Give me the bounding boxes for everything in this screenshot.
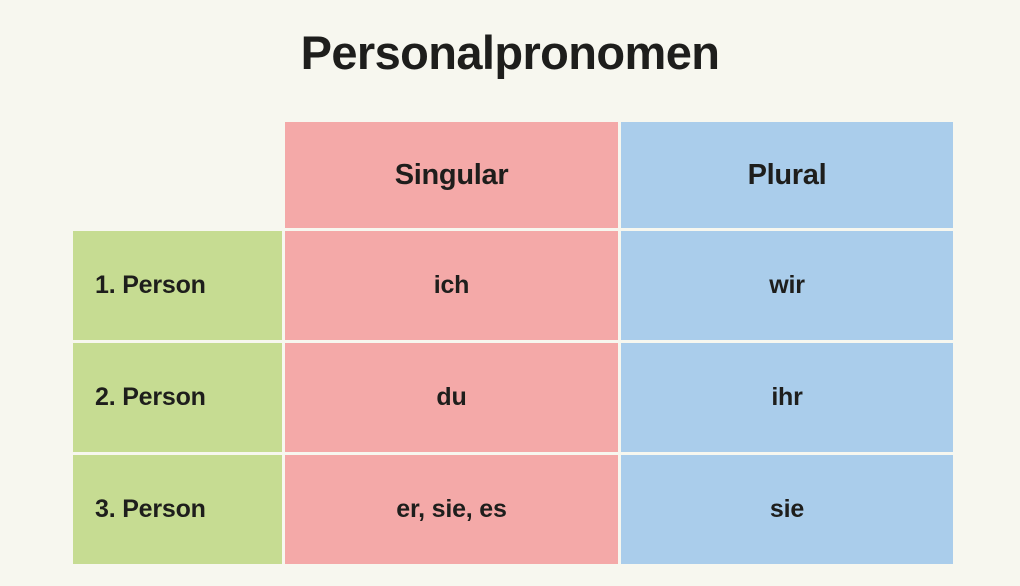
cell-singular-first-person: ich: [285, 231, 618, 340]
cell-singular-second-person: du: [285, 343, 618, 452]
cell-plural-second-person: ihr: [621, 343, 953, 452]
cell-singular-third-person: er, sie, es: [285, 455, 618, 564]
row-header-first-person: 1. Person: [73, 231, 282, 340]
row-header-second-person: 2. Person: [73, 343, 282, 452]
cell-plural-first-person: wir: [621, 231, 953, 340]
row-header-third-person: 3. Person: [73, 455, 282, 564]
column-header-singular: Singular: [285, 122, 618, 228]
column-header-plural: Plural: [621, 122, 953, 228]
table-corner-cell: [73, 122, 282, 228]
personalpronomen-table: Singular Plural 1. Person ich wir 2. Per…: [73, 122, 947, 555]
page-title: Personalpronomen: [0, 26, 1020, 80]
cell-plural-third-person: sie: [621, 455, 953, 564]
personalpronomen-page: Personalpronomen Singular Plural 1. Pers…: [0, 0, 1020, 586]
